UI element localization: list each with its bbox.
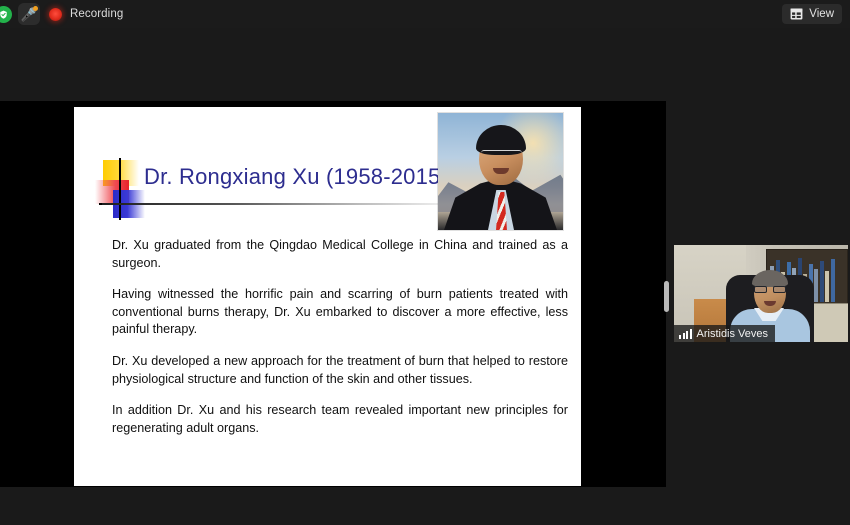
- participant-name-bar: Aristidis Veves: [674, 325, 775, 342]
- slide-paragraph: In addition Dr. Xu and his research team…: [112, 402, 568, 437]
- microphone-button[interactable]: 🎤: [18, 3, 40, 25]
- presentation-slide: Dr. Rongxiang Xu (1958-2015) Dr. Xu grad…: [74, 107, 581, 486]
- participant-video-tile[interactable]: Aristidis Veves: [674, 245, 848, 342]
- view-button[interactable]: View: [782, 4, 842, 24]
- participant-name: Aristidis Veves: [697, 328, 769, 340]
- portrait-glasses-icon: [481, 150, 522, 160]
- logo-vertical-line: [119, 158, 121, 220]
- slide-paragraph: Dr. Xu developed a new approach for the …: [112, 353, 568, 388]
- layout-grid-icon: [790, 8, 803, 20]
- slide-paragraph: Having witnessed the horrific pain and s…: [112, 286, 568, 339]
- panel-resize-handle[interactable]: [664, 281, 669, 312]
- shared-screen-area[interactable]: Dr. Rongxiang Xu (1958-2015) Dr. Xu grad…: [0, 101, 666, 487]
- slide-body-text: Dr. Xu graduated from the Qingdao Medica…: [112, 237, 568, 437]
- slide-paragraph: Dr. Xu graduated from the Qingdao Medica…: [112, 237, 568, 272]
- portrait-of-dr-rongxiang-xu: [438, 113, 563, 230]
- recording-red-dot-icon: [49, 8, 62, 21]
- shield-check-icon[interactable]: [0, 6, 12, 23]
- top-bar-right-group: View: [782, 4, 842, 24]
- orange-status-dot: [33, 6, 38, 11]
- recording-label: Recording: [70, 8, 123, 20]
- view-button-label: View: [809, 8, 834, 20]
- slide-title: Dr. Rongxiang Xu (1958-2015): [144, 164, 448, 190]
- video-participant-glasses-icon: [754, 286, 786, 293]
- top-bar-left-group: 🎤 Recording: [0, 0, 123, 28]
- signal-strength-icon: [679, 329, 692, 339]
- meeting-top-bar: 🎤 Recording View: [0, 0, 850, 28]
- title-underline-rule: [102, 203, 470, 205]
